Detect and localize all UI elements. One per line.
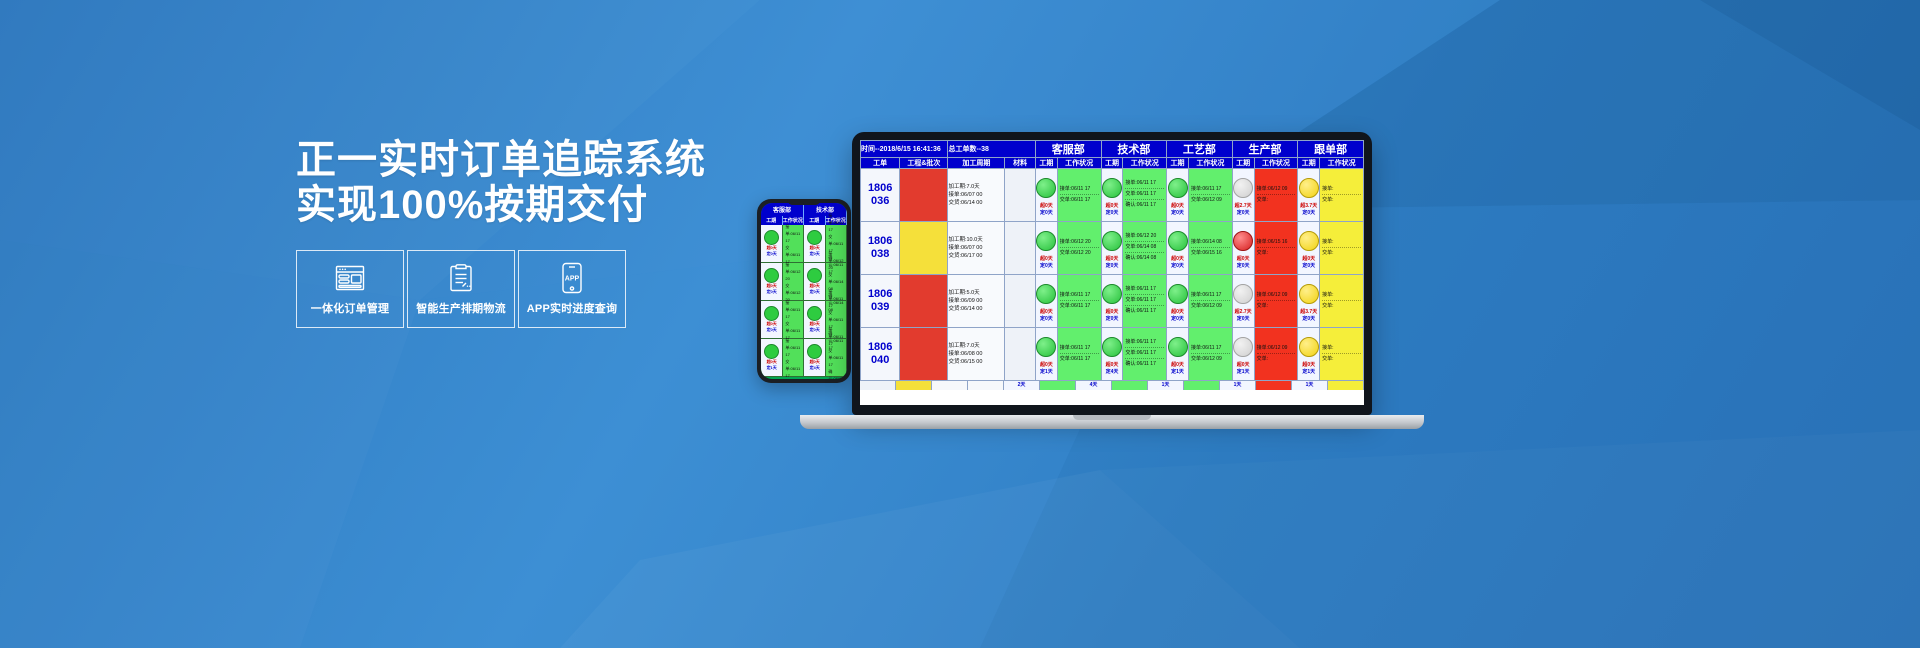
phone-duration-right: 超0天定0天 [804,263,826,300]
dept-status-cell-1: 接单:06/11 17交单:06/11 17确认:06/11 17 [1123,169,1167,222]
over-days-tag: 超0天 [1102,203,1123,210]
order-number: 1806038 [861,222,900,275]
strip-cell [896,381,932,390]
strip-cell [968,381,1004,390]
status-dot-green [807,268,822,283]
over-days-tag: 超0天 [1036,362,1057,369]
app-icon-text: APP [565,276,580,283]
dept-status-cell-2: 接单:06/11 17交单:06/12 09 [1188,169,1232,222]
over-days-tag: 超0天 [1233,256,1254,263]
status-dot-green [1102,337,1122,357]
order-tracking-board: 时间--2018/6/15 16:41:36 总工单数--38 客服部 技术部 … [860,140,1364,381]
strip-cell [932,381,968,390]
strip-cell: 4天 [1076,381,1112,390]
order-number: 1806040 [861,328,900,381]
phone-status-left: 接单:06/11 17交单:06/11 17 [783,225,804,262]
fixed-days-tag: 定1天 [1298,369,1319,376]
dept-duration-cell-0: 超0天定0天 [1035,222,1057,275]
feature-card-order-management[interactable]: 一体化订单管理 [296,250,404,328]
over-days-tag: 超0天 [1233,362,1254,369]
phone-status-left: 接单:06/12 20交单:06/12 20 [783,263,804,300]
dept-duration-cell-2: 超0天定1天 [1167,328,1189,381]
fixed-days-tag: 定1天 [767,365,777,371]
status-dot-green [1036,178,1056,198]
feature-list: 一体化订单管理 智能生产排期物流 [296,250,716,328]
dept-status-cell-4: 接单:交单: [1320,222,1364,275]
col-cycle: 加工周期 [948,158,1005,169]
dept-duration-cell-2: 超0天定0天 [1167,275,1189,328]
project-batch-cell [900,222,948,275]
dept-duration-cell-3: 超0天定0天 [1232,222,1254,275]
phone-duration-right: 超0天定0天 [804,301,826,338]
headline-line-2: 实现100%按期交付 [296,183,716,228]
processing-cycle-cell: 加工期:10.0天接单:06/07 00交货:06/17 00 [948,222,1005,275]
status-dot-green [1036,284,1056,304]
table-row[interactable]: 1806038加工期:10.0天接单:06/07 00交货:06/17 00超0… [861,222,1364,275]
col-duration-4: 工期 [1298,158,1320,169]
fixed-days-tag: 定0天 [767,289,777,295]
dept-status-cell-3: 接单:06/12 09交单: [1254,169,1298,222]
dept-header-1: 技术部 [1101,141,1167,158]
dept-status-cell-2: 接单:06/11 17交单:06/12 09 [1188,328,1232,381]
status-dot-green [764,230,779,245]
dept-status-cell-1: 接单:06/11 17交单:06/11 17确认:06/11 17 [1123,328,1167,381]
fixed-days-tag: 定1天 [1233,369,1254,376]
material-cell [1005,222,1036,275]
dept-status-cell-4: 接单:交单: [1320,275,1364,328]
dept-duration-cell-1: 超0天定0天 [1101,275,1123,328]
dept-header-0: 客服部 [1035,141,1101,158]
strip-cell [860,381,896,390]
over-days-tag: 超0天 [1298,256,1319,263]
dept-status-cell-0: 接单:06/12 20交单:06/12 20 [1057,222,1101,275]
fixed-days-tag: 定0天 [1167,316,1188,323]
fixed-days-tag: 定0天 [1233,210,1254,217]
dept-status-cell-3: 接单:06/12 09交单: [1254,328,1298,381]
status-dot-yellow [1299,231,1319,251]
col-status-3: 工作状况 [1254,158,1298,169]
status-dot-gray [1233,284,1253,304]
phone-col-2: 工期 [804,216,826,225]
strip-cell [1040,381,1076,390]
dept-status-cell-2: 接单:06/11 17交单:06/12 09 [1188,275,1232,328]
phone-status-left: 接单:06/11 17交单:06/11 17 [783,339,804,376]
dept-duration-cell-0: 超0天定1天 [1035,328,1057,381]
hero-copy: 正一实时订单追踪系统 实现100%按期交付 一体化订单管理 [296,138,716,328]
over-days-tag: 超0天 [1167,256,1188,263]
col-order: 工单 [861,158,900,169]
phone-mockup: 客服部 技术部 工期 工作状况 工期 工作状况 超0天定0天接单:06/11 1… [757,199,851,383]
feature-label: APP实时进度查询 [527,300,617,316]
processing-cycle-cell: 加工期:7.0天接单:06/07 00交货:06/14 00 [948,169,1005,222]
laptop-mockup: 时间--2018/6/15 16:41:36 总工单数--38 客服部 技术部 … [852,132,1372,429]
dept-status-cell-0: 接单:06/11 17交单:06/11 17 [1057,328,1101,381]
over-days-tag: 超0天 [1036,203,1057,210]
project-batch-cell [900,169,948,222]
table-row[interactable]: 1806040加工期:7.0天接单:06/08 00交货:06/15 00超0天… [861,328,1364,381]
feature-card-production-scheduling[interactable]: 智能生产排期物流 [407,250,515,328]
phone-duration-left: 超0天定0天 [761,301,783,338]
status-dot-green [1036,231,1056,251]
dept-header-3: 生产部 [1232,141,1298,158]
status-dot-green [1102,231,1122,251]
dept-status-cell-2: 接单:06/14 08交单:06/15 16 [1188,222,1232,275]
board-column-row: 工单 工程&批次 加工周期 材料 工期 工作状况 工期 工作状况 工期 工作状况… [861,158,1364,169]
mobile-app-icon: APP [561,262,583,294]
processing-cycle-cell: 加工期:7.0天接单:06/08 00交货:06/15 00 [948,328,1005,381]
col-duration-0: 工期 [1035,158,1057,169]
over-days-tag: 超0天 [1102,256,1123,263]
clipboard-icon [448,262,474,294]
strip-cell [1256,381,1292,390]
fixed-days-tag: 定0天 [1036,316,1057,323]
col-project: 工程&批次 [900,158,948,169]
col-material: 材料 [1005,158,1036,169]
phone-duration-right: 超0天定0天 [804,225,826,262]
fixed-days-tag: 定0天 [1102,316,1123,323]
phone-notch [787,199,821,205]
over-days-tag: 超0天 [1167,309,1188,316]
status-dot-gray [1233,337,1253,357]
board-bottom-strip: 2天4天1天1天1天 [860,381,1364,390]
phone-status-left: 接单:06/11 17交单:06/11 17 [783,301,804,338]
fixed-days-tag: 定0天 [1036,210,1057,217]
processing-cycle-cell: 加工期:5.0天接单:06/09 00交货:06/14 00 [948,275,1005,328]
page-title: 正一实时订单追踪系统 实现100%按期交付 [296,138,716,228]
fixed-days-tag: 定0天 [1233,263,1254,270]
dept-status-cell-0: 接单:06/11 17交单:06/11 17 [1057,275,1101,328]
phone-table-body: 超0天定0天接单:06/11 17交单:06/11 17超0天定0天接单:06/… [761,225,847,377]
board-time: 时间--2018/6/15 16:41:36 [861,141,948,158]
status-dot-green [807,306,822,321]
fixed-days-tag: 定0天 [1102,210,1123,217]
col-duration-1: 工期 [1101,158,1123,169]
dept-duration-cell-3: 超0天定1天 [1232,328,1254,381]
fixed-days-tag: 定0天 [1298,263,1319,270]
phone-table-row[interactable]: 超0天定1天接单:06/11 17交单:06/11 17超0天定4天接单:06/… [761,339,847,377]
status-dot-green [764,268,779,283]
fixed-days-tag: 定0天 [1167,210,1188,217]
strip-cell: 1天 [1220,381,1256,390]
headline-line-1: 正一实时订单追踪系统 [296,138,706,182]
strip-cell: 1天 [1148,381,1184,390]
over-days-tag: 超0天 [1036,309,1057,316]
order-number: 1806039 [861,275,900,328]
board-info-row: 时间--2018/6/15 16:41:36 总工单数--38 客服部 技术部 … [861,141,1364,158]
window-layout-icon [335,262,365,294]
dept-duration-cell-0: 超0天定0天 [1035,169,1057,222]
strip-cell: 2天 [1004,381,1040,390]
fixed-days-tag: 定0天 [1298,210,1319,217]
fixed-days-tag: 定0天 [810,327,820,333]
dept-duration-cell-0: 超0天定0天 [1035,275,1057,328]
fixed-days-tag: 定0天 [810,251,820,257]
fixed-days-tag: 定4天 [810,365,820,371]
fixed-days-tag: 定0天 [1036,263,1057,270]
dept-duration-cell-4: 超3.7天定0天 [1298,169,1320,222]
status-dot-green [764,344,779,359]
strip-cell: 1天 [1292,381,1328,390]
phone-duration-left: 超0天定0天 [761,263,783,300]
status-dot-green [1102,178,1122,198]
dept-header-4: 跟单部 [1298,141,1364,158]
status-dot-green [807,344,822,359]
dept-duration-cell-1: 超0天定4天 [1101,328,1123,381]
dept-status-cell-1: 接单:06/11 17交单:06/11 17确认:06/11 17 [1123,275,1167,328]
strip-cell [1112,381,1148,390]
fixed-days-tag: 定0天 [1233,316,1254,323]
laptop-screen: 时间--2018/6/15 16:41:36 总工单数--38 客服部 技术部 … [860,140,1364,405]
col-status-1: 工作状况 [1123,158,1167,169]
phone-col-0: 工期 [761,216,783,225]
status-dot-green [1168,178,1188,198]
status-dot-green [1036,337,1056,357]
dept-duration-cell-2: 超0天定0天 [1167,222,1189,275]
status-dot-yellow [1299,284,1319,304]
over-days-tag: 超0天 [1102,362,1123,369]
dept-duration-cell-4: 超0天定1天 [1298,328,1320,381]
material-cell [1005,275,1036,328]
dept-duration-cell-3: 超2.7天定0天 [1232,169,1254,222]
status-dot-green [1102,284,1122,304]
fixed-days-tag: 定0天 [1167,263,1188,270]
over-days-tag: 超3.7天 [1298,309,1319,316]
laptop-lid: 时间--2018/6/15 16:41:36 总工单数--38 客服部 技术部 … [852,132,1372,415]
phone-screen: 客服部 技术部 工期 工作状况 工期 工作状况 超0天定0天接单:06/11 1… [761,203,847,379]
status-dot-gray [1233,178,1253,198]
dept-duration-cell-4: 超3.7天定0天 [1298,275,1320,328]
table-row[interactable]: 1806036加工期:7.0天接单:06/07 00交货:06/14 00超0天… [861,169,1364,222]
dept-duration-cell-2: 超0天定0天 [1167,169,1189,222]
dept-duration-cell-4: 超0天定0天 [1298,222,1320,275]
strip-cell [1184,381,1220,390]
over-days-tag: 超3.7天 [1298,203,1319,210]
col-duration-2: 工期 [1167,158,1189,169]
col-status-0: 工作状况 [1057,158,1101,169]
fixed-days-tag: 定0天 [810,289,820,295]
laptop-base [800,415,1424,429]
phone-duration-left: 超0天定0天 [761,225,783,262]
over-days-tag: 超0天 [1298,362,1319,369]
over-days-tag: 超2.7天 [1233,203,1254,210]
dept-duration-cell-1: 超0天定0天 [1101,222,1123,275]
fixed-days-tag: 定1天 [1036,369,1057,376]
dept-status-cell-1: 接单:06/12 20交单:06/14 08确认:06/14 08 [1123,222,1167,275]
status-dot-yellow [1299,178,1319,198]
over-days-tag: 超0天 [1167,362,1188,369]
feature-label: 一体化订单管理 [311,300,389,316]
status-dot-red [1233,231,1253,251]
feature-card-app-progress-query[interactable]: APP APP实时进度查询 [518,250,626,328]
over-days-tag: 超0天 [1036,256,1057,263]
dept-status-cell-3: 接单:06/15 16交单: [1254,222,1298,275]
table-row[interactable]: 1806039加工期:5.0天接单:06/09 00交货:06/14 00超0天… [861,275,1364,328]
status-dot-green [1168,284,1188,304]
order-number: 1806036 [861,169,900,222]
strip-cell [1328,381,1364,390]
dept-status-cell-4: 接单:交单: [1320,169,1364,222]
dept-header-2: 工艺部 [1167,141,1233,158]
dept-status-cell-3: 接单:06/12 09交单: [1254,275,1298,328]
fixed-days-tag: 定0天 [767,251,777,257]
status-dot-yellow [1299,337,1319,357]
fixed-days-tag: 定0天 [767,327,777,333]
feature-label: 智能生产排期物流 [416,300,506,316]
status-dot-green [807,230,822,245]
col-duration-3: 工期 [1232,158,1254,169]
over-days-tag: 超0天 [1167,203,1188,210]
material-cell [1005,328,1036,381]
dept-status-cell-0: 接单:06/11 17交单:06/11 17 [1057,169,1101,222]
fixed-days-tag: 定4天 [1102,369,1123,376]
phone-status-right: 接单:06/11 17交单:06/11 17确认:06/11 17 [826,339,847,376]
status-dot-green [764,306,779,321]
dept-duration-cell-1: 超0天定0天 [1101,169,1123,222]
dept-duration-cell-3: 超2.7天定0天 [1232,275,1254,328]
dept-status-cell-4: 接单:交单: [1320,328,1364,381]
board-body: 1806036加工期:7.0天接单:06/07 00交货:06/14 00超0天… [861,169,1364,381]
status-dot-green [1168,337,1188,357]
project-batch-cell [900,328,948,381]
status-dot-green [1168,231,1188,251]
fixed-days-tag: 定1天 [1167,369,1188,376]
phone-duration-left: 超0天定1天 [761,339,783,376]
board-total: 总工单数--38 [948,141,1035,158]
col-status-4: 工作状况 [1320,158,1364,169]
material-cell [1005,169,1036,222]
col-status-2: 工作状况 [1188,158,1232,169]
fixed-days-tag: 定0天 [1298,316,1319,323]
phone-duration-right: 超0天定4天 [804,339,826,376]
over-days-tag: 超2.7天 [1233,309,1254,316]
over-days-tag: 超0天 [1102,309,1123,316]
fixed-days-tag: 定0天 [1102,263,1123,270]
project-batch-cell [900,275,948,328]
